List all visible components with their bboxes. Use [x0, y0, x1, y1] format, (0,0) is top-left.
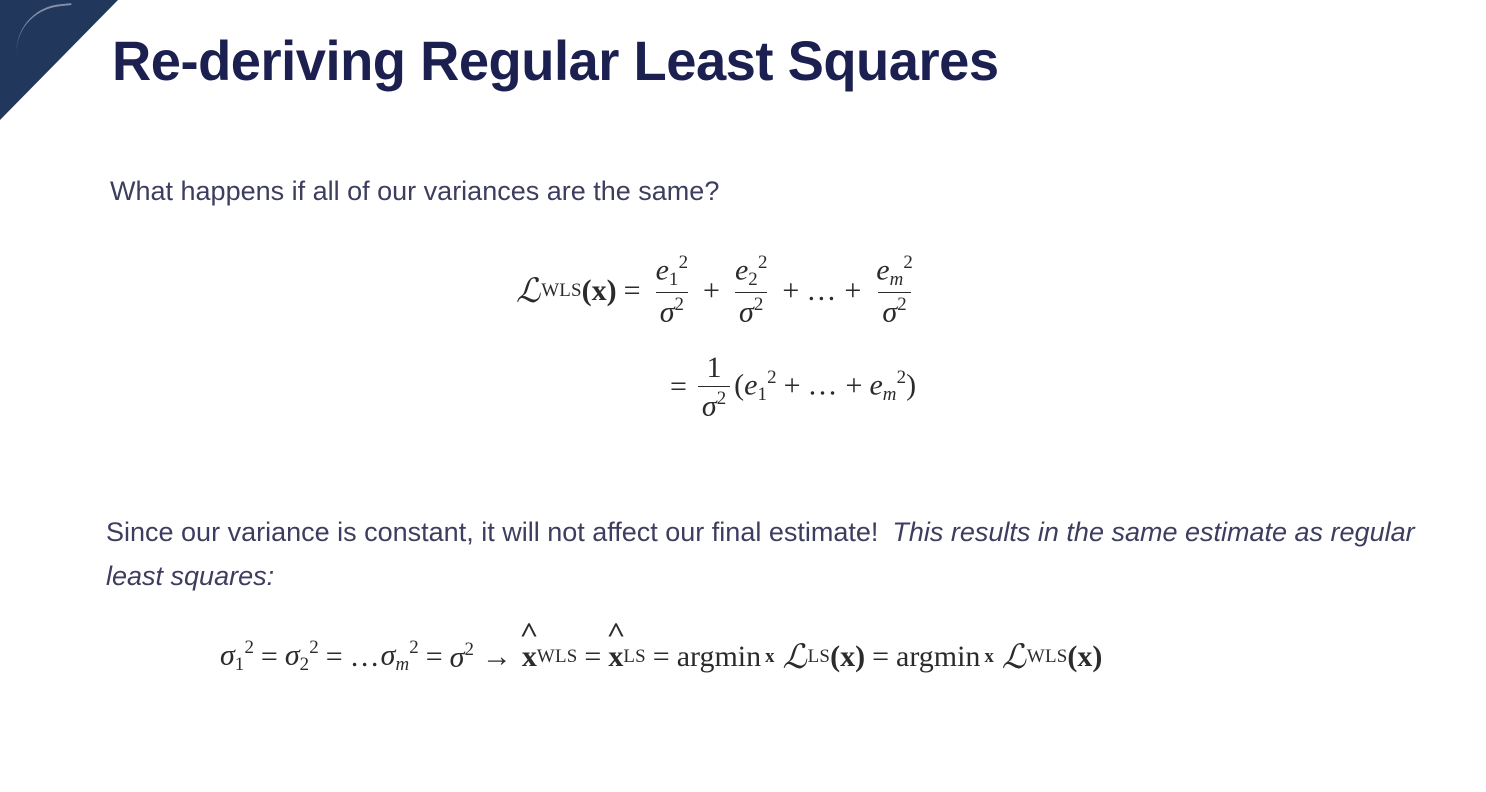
- sigma-m-squared: σm2: [381, 637, 419, 676]
- subscript-wls-1: WLS: [537, 646, 577, 668]
- equals-sign: =: [617, 274, 648, 308]
- argmin-subscript-2: x: [980, 646, 993, 668]
- ellipsis-1: …: [806, 274, 837, 308]
- script-l-symbol: ℒ: [516, 271, 541, 310]
- ls-argument: (x): [830, 640, 865, 674]
- equals-sign-c: =: [419, 640, 450, 674]
- question-text: What happens if all of our variances are…: [110, 176, 719, 207]
- equation-loss-expansion-line1: ℒWLS(x) = e12 σ2 + e22 σ2 + … + em2 σ2: [516, 253, 921, 328]
- argmin-label-2: argmin: [896, 640, 980, 674]
- fraction-one-over-sigma-squared: 1 σ2: [698, 352, 730, 422]
- argmin-label-1: argmin: [677, 640, 761, 674]
- ellipsis-sigma: …: [350, 640, 381, 674]
- x-hat-ls: x: [608, 640, 623, 674]
- wls-argument: (x): [1067, 640, 1102, 674]
- plus-sign-1: +: [696, 274, 727, 308]
- equals-sign-a: =: [254, 640, 285, 674]
- sigma-2-squared: σ22: [285, 637, 319, 676]
- implies-arrow-icon: →: [474, 640, 522, 674]
- grouped-residual-sum: (e12+…+em2): [734, 367, 916, 406]
- conclusion-plain-text: Since our variance is constant, it will …: [106, 517, 878, 547]
- corner-wedge-decoration: [0, 0, 130, 120]
- sigma-1-squared: σ12: [220, 637, 254, 676]
- fraction-term-m: em2 σ2: [872, 253, 917, 328]
- slide-canvas: Re-deriving Regular Least Squares What h…: [0, 0, 1486, 792]
- subscript-ls-2: LS: [808, 646, 830, 668]
- sigma-squared: σ2: [450, 639, 474, 675]
- fraction-term-1: e12 σ2: [652, 253, 692, 328]
- subscript-wls-2: WLS: [1027, 646, 1067, 668]
- equals-sign-d: =: [577, 640, 608, 674]
- equation-equivalence: σ12 = σ22 = …σm2 = σ2 → xWLS = xLS = arg…: [220, 637, 1102, 676]
- equals-sign-e: =: [646, 640, 677, 674]
- fraction-term-2: e22 σ2: [731, 253, 771, 328]
- plus-sign-3: +: [837, 274, 868, 308]
- loss-argument: (x): [582, 274, 617, 308]
- x-hat-wls: x: [522, 640, 537, 674]
- equals-sign-b: =: [319, 640, 350, 674]
- plus-sign-2: +: [775, 274, 806, 308]
- script-l-wls: ℒ: [1002, 637, 1027, 676]
- script-l-ls: ℒ: [782, 637, 807, 676]
- equals-sign-f: =: [865, 640, 896, 674]
- corner-arc-icon: [12, 3, 77, 57]
- equation-loss-expansion-line2: = 1 σ2 (e12+…+em2): [663, 352, 916, 422]
- subscript-ls-1: LS: [623, 646, 645, 668]
- loss-subscript-wls: WLS: [541, 280, 581, 302]
- argmin-subscript-1: x: [761, 646, 774, 668]
- page-title: Re-deriving Regular Least Squares: [112, 28, 999, 93]
- conclusion-paragraph: Since our variance is constant, it will …: [106, 510, 1426, 598]
- equals-sign-line2: =: [663, 370, 694, 404]
